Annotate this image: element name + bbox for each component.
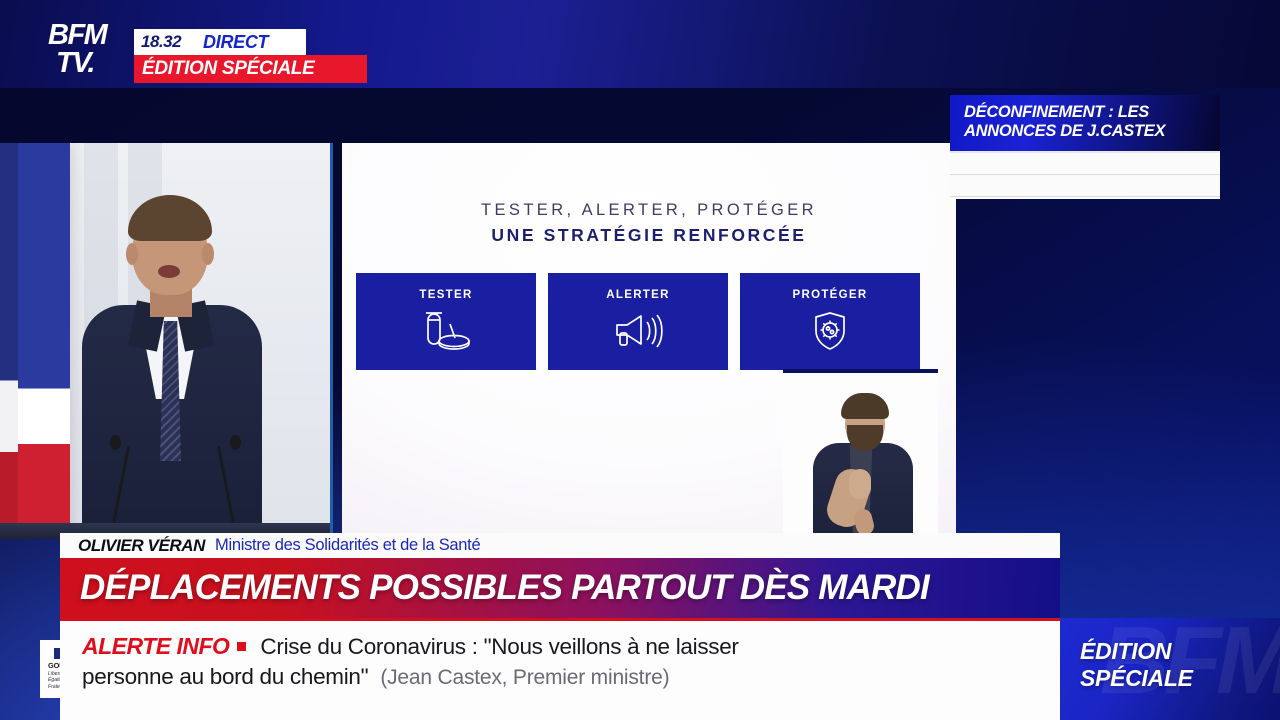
special-edition-box-text: ÉDITION SPÉCIALE [1080,638,1193,692]
strategy-card-proteger: PROTÉGER [740,273,920,370]
strategy-card-alerter: ALERTER [548,273,728,370]
topic-banner: DÉCONFINEMENT : LES ANNONCES DE J.CASTEX [950,95,1220,199]
interpreter-hand-upper [849,469,871,499]
special-edition-box: BFM ÉDITION SPÉCIALE [1060,618,1280,720]
special-edition-line1: ÉDITION [1080,638,1193,665]
special-edition-row: ÉDITION SPÉCIALE [134,55,367,83]
strategy-cards: TESTER ALERTER [356,273,920,370]
presenter-video-feed [0,143,333,539]
strategy-card-tester: TESTER [356,273,536,370]
banner-row [950,153,1220,175]
current-time: 18.32 [141,32,181,52]
card-label: TESTER [419,289,472,301]
ticker-text-line1: Crise du Coronavirus : "Nous veillons à … [260,634,738,660]
french-flag-edge [0,143,18,539]
presenter-ear-right [202,243,214,265]
microphone-head-left [110,435,121,450]
slide-heading: TESTER, ALERTER, PROTÉGER UNE STRATÉGIE … [342,201,956,246]
live-badge: DIRECT [203,32,268,53]
card-label: ALERTER [606,289,669,301]
speaker-role: Ministre des Solidarités et de la Santé [215,536,480,555]
slide-eyebrow: TESTER, ALERTER, PROTÉGER [342,201,956,220]
speaker-name-bar: OLIVIER VÉRAN Ministre des Solidarités e… [60,533,1060,558]
banner-row [950,175,1220,197]
ticker-attribution: (Jean Castex, Premier ministre) [380,666,669,690]
bfmtv-logo: BFM TV. [48,22,126,78]
speaker-name: OLIVIER VÉRAN [78,536,205,556]
headline-band: DÉPLACEMENTS POSSIBLES PARTOUT DÈS MARDI [60,558,1060,618]
interpreter-hair [841,393,889,419]
live-time-row: 18.32 DIRECT [134,29,306,55]
presentation-slide: TESTER, ALERTER, PROTÉGER UNE STRATÉGIE … [342,143,956,561]
slide-title: UNE STRATÉGIE RENFORCÉE [342,225,956,246]
test-tube-petri-dish-icon [419,310,473,357]
presenter-ear-left [126,243,138,265]
headline-text: DÉPLACEMENTS POSSIBLES PARTOUT DÈS MARDI [80,568,929,608]
shield-virus-icon [809,310,851,357]
alert-square-icon [237,642,246,651]
microphone-head-right [230,435,241,450]
topic-banner-blank-panel [950,151,1220,199]
alert-badge: ALERTE INFO [82,633,229,660]
ticker-line-2: personne au bord du chemin" (Jean Castex… [82,664,1060,690]
ticker-text-line2: personne au bord du chemin" [82,664,368,690]
topic-banner-line2: ANNONCES DE J.CASTEX [964,122,1210,141]
topic-banner-headline: DÉCONFINEMENT : LES ANNONCES DE J.CASTEX [950,95,1220,151]
special-edition-label: ÉDITION SPÉCIALE [142,58,315,80]
topic-banner-line1: DÉCONFINEMENT : LES [964,103,1210,122]
presenter-mouth [158,265,180,278]
presenter-figure [76,199,266,539]
megaphone-icon [611,310,665,357]
bfmtv-logo-line2: TV. [48,50,126,78]
card-label: PROTÉGER [793,289,868,301]
bfmtv-logo-line1: BFM [48,22,126,50]
news-ticker: ALERTE INFO Crise du Coronavirus : "Nous… [60,618,1060,720]
live-status-block: 18.32 DIRECT ÉDITION SPÉCIALE [134,29,367,83]
ticker-line-1: ALERTE INFO Crise du Coronavirus : "Nous… [82,633,1060,660]
presenter-hair [128,195,212,241]
special-edition-line2: SPÉCIALE [1080,665,1193,692]
channel-header: BFM TV. 18.32 DIRECT ÉDITION SPÉCIALE [0,0,1280,88]
